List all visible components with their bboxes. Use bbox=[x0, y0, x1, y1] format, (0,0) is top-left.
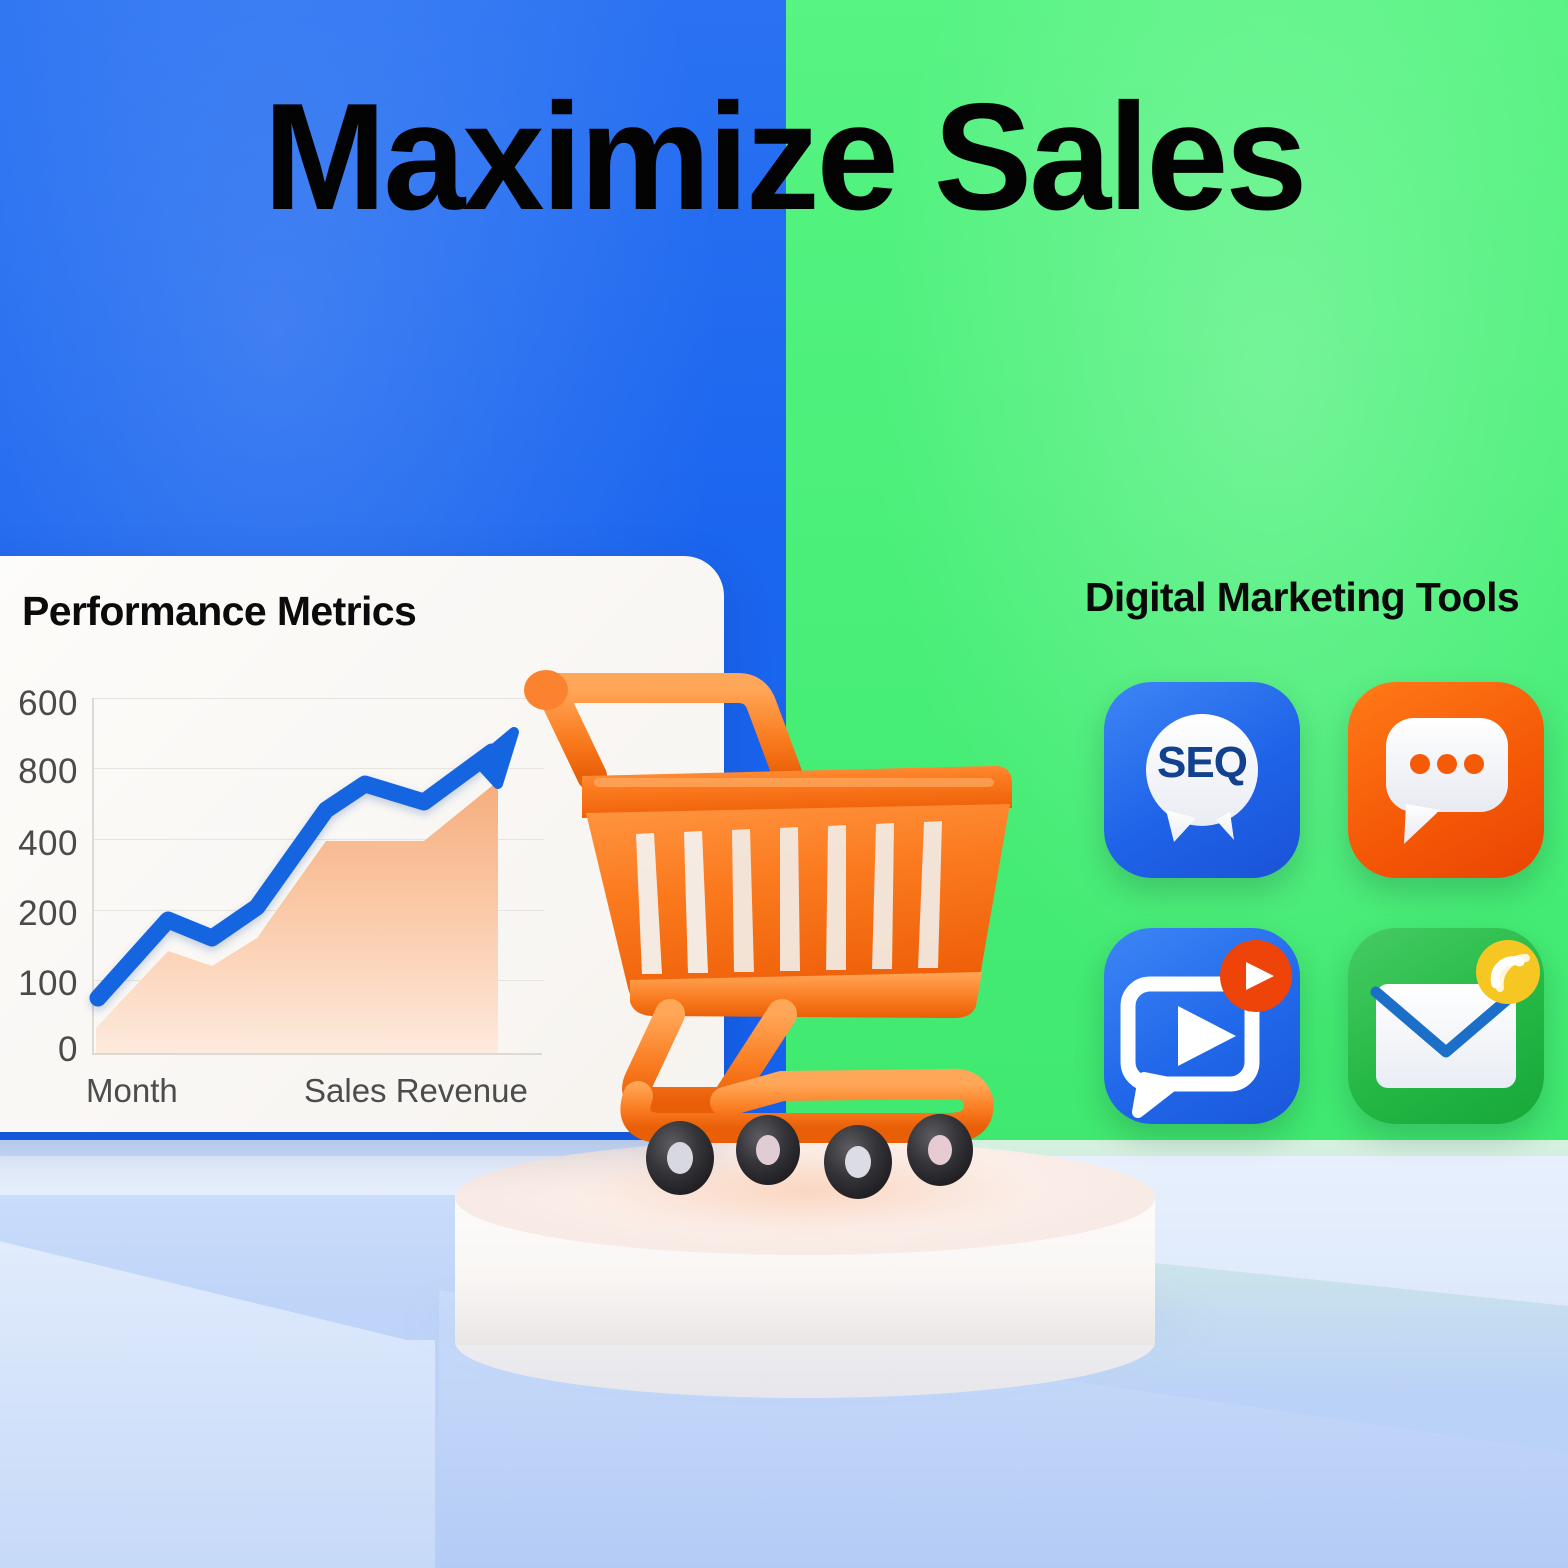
sales-trend-chart bbox=[94, 698, 544, 1055]
x-axis-label-month: Month bbox=[86, 1072, 178, 1110]
card-title: Performance Metrics bbox=[22, 588, 416, 635]
envelope-signal-icon bbox=[1348, 928, 1544, 1124]
page-title: Maximize Sales bbox=[24, 78, 1545, 238]
y-tick-label-5: 0 bbox=[0, 1030, 78, 1070]
cart-rail-highlight bbox=[594, 778, 994, 787]
video-play-bubble-icon bbox=[1104, 928, 1300, 1124]
tools-section-title: Digital Marketing Tools bbox=[1062, 574, 1542, 621]
y-tick-label-1: 800 bbox=[0, 752, 78, 792]
tools-grid: SEQ bbox=[1104, 682, 1544, 1124]
chart-area-fill bbox=[96, 781, 498, 1053]
tool-tile-video[interactable] bbox=[1104, 928, 1300, 1124]
x-axis-label-series: Sales Revenue bbox=[304, 1072, 528, 1110]
y-tick-label-2: 400 bbox=[0, 824, 78, 864]
poster-canvas: Maximize Sales Performance Metrics 600 8… bbox=[0, 0, 1568, 1568]
y-tick-label-3: 200 bbox=[0, 894, 78, 934]
tool-tile-email[interactable] bbox=[1348, 928, 1544, 1124]
y-tick-label-4: 100 bbox=[0, 964, 78, 1004]
email-notification-badge bbox=[1476, 940, 1540, 1004]
chart-arrowhead-icon bbox=[478, 732, 514, 784]
cart-handle-knob bbox=[524, 670, 568, 710]
seo-tile-label: SEQ bbox=[1104, 738, 1300, 788]
chat-bubble-dots-icon bbox=[1348, 682, 1544, 878]
y-tick-label-0: 600 bbox=[0, 684, 78, 724]
chart-plot-area bbox=[92, 698, 542, 1055]
shopping-cart-3d-icon bbox=[520, 658, 1040, 1218]
tool-tile-seo[interactable]: SEQ bbox=[1104, 682, 1300, 878]
tool-tile-chat[interactable] bbox=[1348, 682, 1544, 878]
